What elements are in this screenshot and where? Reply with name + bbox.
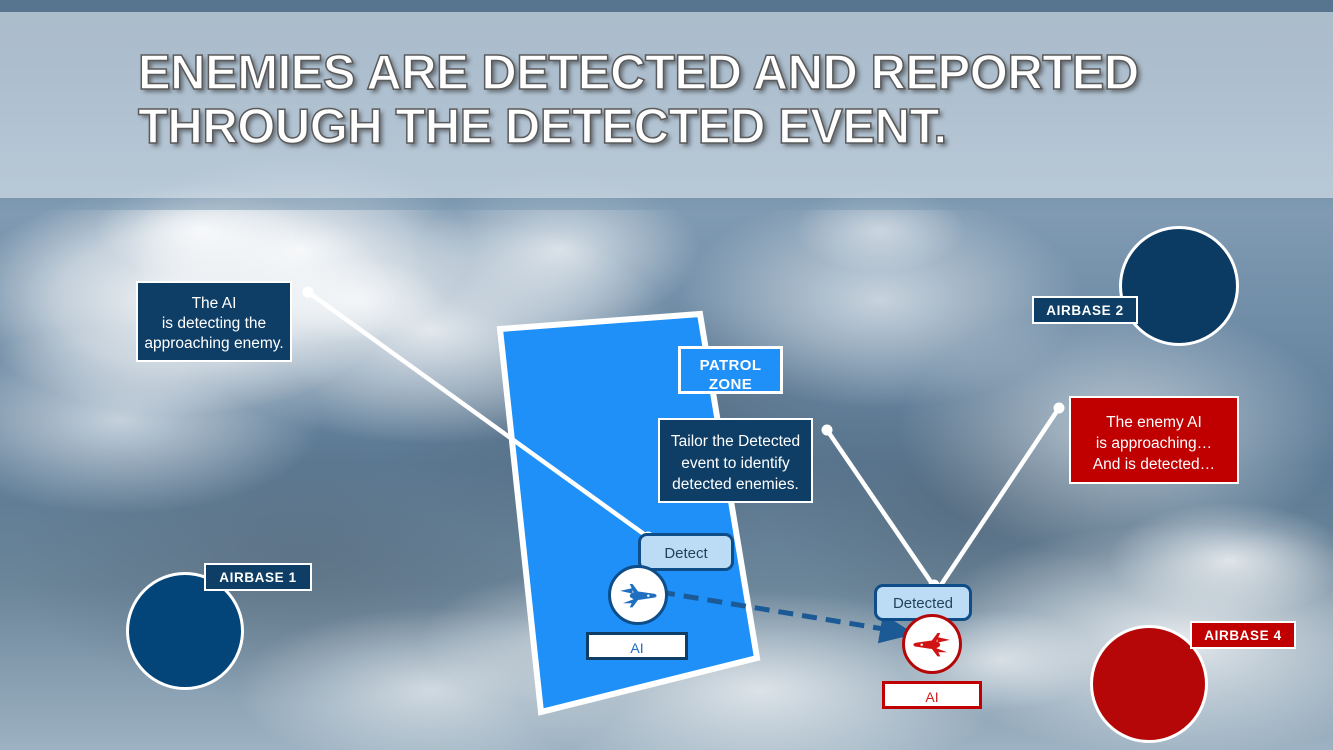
leader-dot-enemy-ai (1054, 403, 1065, 414)
leader-dot-tailor (822, 425, 833, 436)
airbase-4-label[interactable]: AIRBASE 4 (1190, 621, 1296, 649)
slide-canvas: Enemies are detected and reported throug… (0, 0, 1333, 750)
patrol-zone-label[interactable]: PATROL ZONE (678, 346, 783, 394)
enemy-fighter-jet-glyph (910, 622, 954, 666)
airbase-1-label[interactable]: AIRBASE 1 (204, 563, 312, 591)
enemy-fighter-jet-icon[interactable] (902, 614, 962, 674)
label-ai-friendly[interactable]: AI (586, 632, 688, 660)
fighter-jet-icon[interactable] (608, 565, 668, 625)
callout-ai-detecting[interactable]: The AI is detecting the approaching enem… (136, 281, 292, 362)
leader-dot-ai-detecting (303, 287, 314, 298)
leader-line-tailor (827, 430, 933, 585)
callout-tailor-detected-event[interactable]: Tailor the Detected event to identify de… (658, 418, 813, 503)
airbase-2-label[interactable]: AIRBASE 2 (1032, 296, 1138, 324)
fighter-jet-glyph (616, 573, 660, 617)
airbase-2-marker[interactable] (1119, 226, 1239, 346)
node-detect[interactable]: Detect (638, 533, 734, 571)
leader-line-enemy-ai (941, 408, 1059, 585)
callout-enemy-ai[interactable]: The enemy AI is approaching… And is dete… (1069, 396, 1239, 484)
label-ai-enemy[interactable]: AI (882, 681, 982, 709)
